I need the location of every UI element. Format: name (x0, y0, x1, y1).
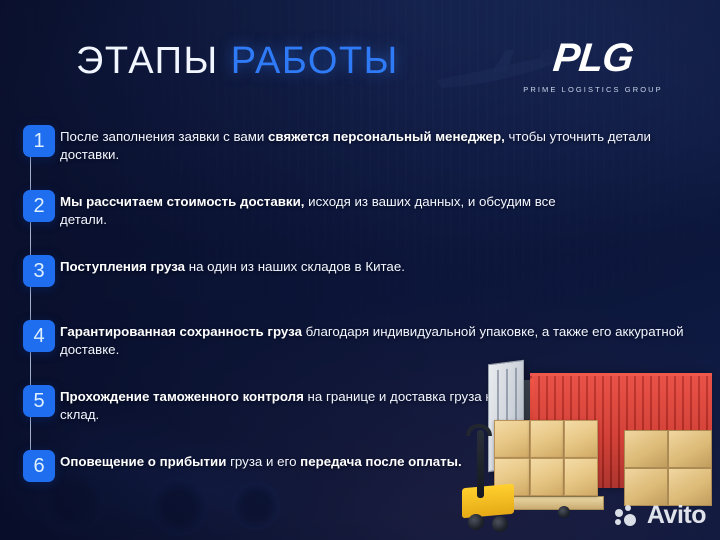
step-description: После заполнения заявки с вами свяжется … (60, 125, 720, 165)
logo-wordmark: PLG (506, 38, 680, 78)
step-connector-line (30, 222, 32, 255)
step-badge-column: 3 (0, 255, 60, 287)
step-text-emphasis: Гарантированная сохранность груза (60, 324, 302, 339)
page-title: ЭТАПЫ РАБОТЫ (76, 42, 399, 80)
pallet-jack-icon (462, 484, 514, 519)
pallet-jack-wheel (492, 516, 508, 532)
step-text-emphasis: Поступления груза (60, 259, 185, 274)
step-badge-column: 4 (0, 320, 60, 352)
pallet-jack-mast (477, 430, 484, 498)
title-word-work: РАБОТЫ (231, 40, 399, 82)
step-text-emphasis: Прохождение таможенного контроля (60, 389, 304, 404)
step-description: Мы рассчитаем стоимость доставки, исходя… (60, 190, 720, 230)
step-number-badge: 5 (23, 385, 55, 417)
cardboard-boxes-icon (668, 430, 712, 468)
step-number-badge: 1 (23, 125, 55, 157)
step-item: 1После заполнения заявки с вами свяжется… (0, 125, 720, 190)
step-badge-column: 2 (0, 190, 60, 222)
step-connector-line (30, 417, 32, 450)
promo-poster: ЭТАПЫ РАБОТЫ PLG PRIME LOGISTICS GROUP 1… (0, 0, 720, 540)
pallet-jack-wheel (468, 514, 484, 530)
step-text-plain: груза и его (226, 454, 300, 469)
step-number-badge: 4 (23, 320, 55, 352)
step-text-plain: на один из наших складов в Китае. (185, 259, 405, 274)
step-number-badge: 3 (23, 255, 55, 287)
step-badge-column: 5 (0, 385, 60, 417)
step-description: Поступления груза на один из наших склад… (60, 255, 720, 276)
step-text-emphasis: Мы рассчитаем стоимость доставки, (60, 194, 304, 209)
avito-wordmark: Avito (647, 503, 706, 528)
step-number-badge: 2 (23, 190, 55, 222)
poster-header: ЭТАПЫ РАБОТЫ PLG PRIME LOGISTICS GROUP (0, 0, 720, 112)
step-number-badge: 6 (23, 450, 55, 482)
logo-tagline: PRIME LOGISTICS GROUP (508, 85, 678, 94)
step-connector-line (30, 352, 32, 385)
brand-logo: PLG PRIME LOGISTICS GROUP (508, 38, 678, 94)
title-word-stages: ЭТАПЫ (76, 40, 219, 82)
step-badge-column: 1 (0, 125, 60, 157)
avito-dots-icon (615, 505, 641, 527)
step-text-emphasis: свяжется персональный менеджер, (268, 129, 505, 144)
step-item: 3Поступления груза на один из наших скла… (0, 255, 720, 320)
step-item: 2Мы рассчитаем стоимость доставки, исход… (0, 190, 720, 255)
step-badge-column: 6 (0, 450, 60, 482)
step-connector-line (30, 157, 32, 190)
step-connector-line (30, 287, 32, 320)
avito-watermark: Avito (615, 503, 706, 528)
pallet-jack-wheel (558, 506, 570, 518)
step-text-emphasis: Оповещение о прибытии (60, 454, 226, 469)
step-text-emphasis: передача после оплаты. (300, 454, 462, 469)
step-text-plain: После заполнения заявки с вами (60, 129, 268, 144)
cardboard-boxes-icon (624, 430, 668, 468)
